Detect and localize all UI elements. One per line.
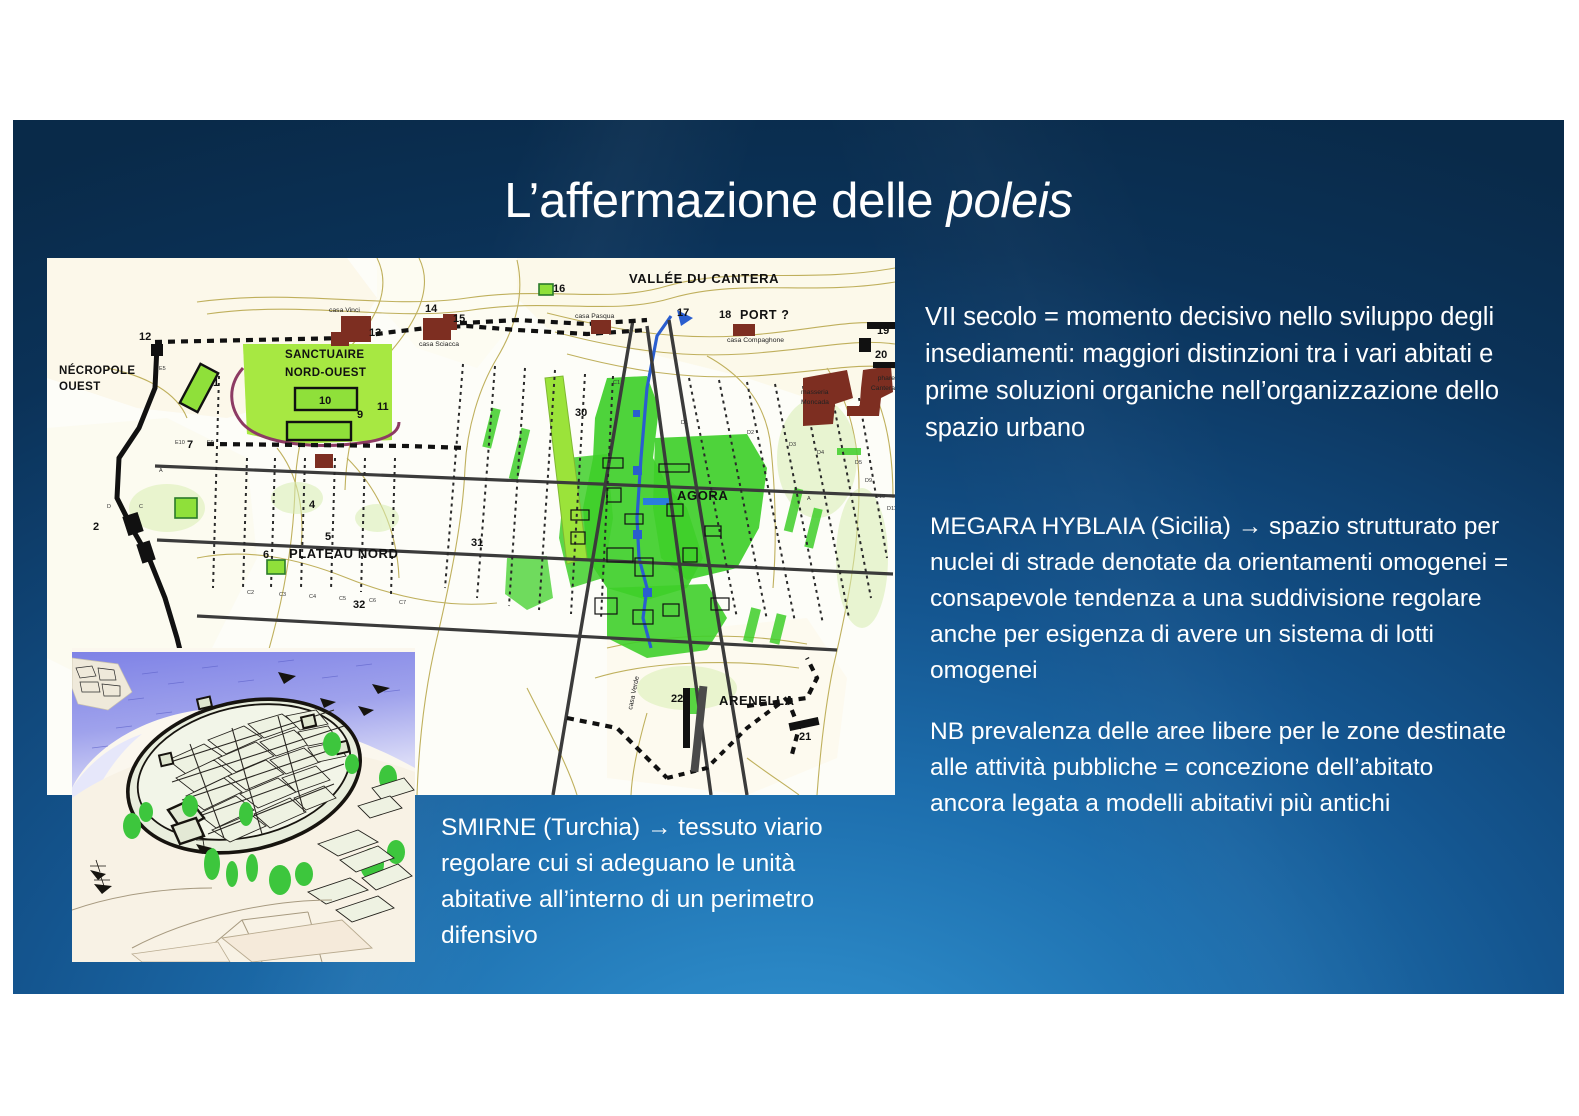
page-title: L’affermazione delle poleis <box>13 172 1564 230</box>
svg-text:C4: C4 <box>309 594 316 600</box>
svg-text:20: 20 <box>875 349 887 361</box>
paragraph-megara-hyblaia-text: MEGARA HYBLAIA (Sicilia) → spazio strutt… <box>930 509 1530 689</box>
svg-text:C2: C2 <box>247 590 254 596</box>
svg-text:10: 10 <box>319 395 331 407</box>
svg-text:Moncada: Moncada <box>801 399 829 406</box>
svg-text:SANCTUAIRE: SANCTUAIRE <box>285 349 364 361</box>
svg-text:21: 21 <box>799 731 811 743</box>
svg-text:E5: E5 <box>159 366 166 372</box>
svg-text:32: 32 <box>353 599 365 611</box>
svg-text:12: 12 <box>139 331 151 343</box>
svg-text:D4: D4 <box>817 450 824 456</box>
svg-text:casa Vinci: casa Vinci <box>329 307 360 314</box>
svg-text:1: 1 <box>213 377 219 389</box>
svg-text:31: 31 <box>471 537 483 549</box>
caption-smirne-text: SMIRNE (Turchia) → tessuto viario regola… <box>441 810 881 954</box>
svg-text:casa Compaghone: casa Compaghone <box>727 337 784 344</box>
svg-text:16: 16 <box>553 283 565 295</box>
svg-text:masseria: masseria <box>801 389 829 396</box>
caption-smirne: SMIRNE (Turchia) → tessuto viario regola… <box>441 810 881 954</box>
paragraph-vii-secolo: VII secolo = momento decisivo nello svil… <box>925 299 1533 447</box>
svg-text:22: 22 <box>671 693 683 705</box>
title-italic-text: poleis <box>947 174 1073 228</box>
svg-text:PORT ?: PORT ? <box>740 308 789 322</box>
svg-text:VALLÉE DU CANTERA: VALLÉE DU CANTERA <box>629 271 779 286</box>
svg-text:14: 14 <box>425 303 438 315</box>
paragraph-vii-secolo-text: VII secolo = momento decisivo nello svil… <box>925 299 1533 447</box>
svg-text:D: D <box>107 504 111 510</box>
svg-text:A: A <box>807 496 811 502</box>
svg-text:D3: D3 <box>789 442 796 448</box>
svg-text:E9: E9 <box>207 440 214 446</box>
paragraph-megara-hyblaia: MEGARA HYBLAIA (Sicilia) → spazio strutt… <box>930 509 1530 689</box>
svg-text:19: 19 <box>877 325 889 337</box>
svg-text:C5: C5 <box>339 596 346 602</box>
svg-text:30: 30 <box>575 407 587 419</box>
svg-text:OUEST: OUEST <box>59 381 101 393</box>
svg-text:4: 4 <box>309 499 316 511</box>
svg-text:ARENELLA: ARENELLA <box>719 693 795 708</box>
svg-text:NORD-OUEST: NORD-OUEST <box>285 367 366 379</box>
svg-text:PLATEAU NORD: PLATEAU NORD <box>289 546 399 561</box>
svg-text:D10: D10 <box>875 494 885 500</box>
svg-text:15: 15 <box>453 313 465 325</box>
presentation-slide: L’affermazione delle poleis <box>13 120 1564 994</box>
svg-text:D2: D2 <box>747 430 754 436</box>
svg-text:C7: C7 <box>399 600 406 606</box>
svg-text:13: 13 <box>369 327 381 339</box>
svg-text:18: 18 <box>719 309 731 321</box>
svg-text:AGORA: AGORA <box>677 488 728 503</box>
svg-text:Cantera: Cantera <box>871 385 895 392</box>
smirne-reconstruction-image <box>72 648 415 962</box>
paragraph-nb-aree-libere: NB prevalenza delle aree libere per le z… <box>930 714 1510 822</box>
svg-text:D1: D1 <box>681 420 688 426</box>
svg-text:2: 2 <box>93 521 99 533</box>
svg-text:E10: E10 <box>175 440 185 446</box>
svg-text:C3: C3 <box>279 592 286 598</box>
paragraph-nb-aree-libere-text: NB prevalenza delle aree libere per le z… <box>930 714 1510 822</box>
svg-text:D5: D5 <box>855 460 862 466</box>
svg-text:NÉCROPOLE: NÉCROPOLE <box>59 364 135 377</box>
svg-text:11: 11 <box>377 401 389 413</box>
svg-text:C: C <box>139 504 143 510</box>
svg-text:phare: phare <box>878 375 895 382</box>
svg-text:D9: D9 <box>865 478 872 484</box>
slide-page: L’affermazione delle poleis <box>0 0 1579 1116</box>
svg-text:7: 7 <box>187 439 193 451</box>
svg-text:6: 6 <box>263 549 269 561</box>
svg-text:D11: D11 <box>887 506 895 512</box>
svg-text:9: 9 <box>357 409 363 421</box>
svg-text:casa Sciacca: casa Sciacca <box>419 341 459 348</box>
svg-text:A: A <box>159 468 163 474</box>
svg-text:5: 5 <box>325 531 331 543</box>
svg-text:C1: C1 <box>613 380 620 386</box>
svg-text:casa Pasqua: casa Pasqua <box>575 313 615 320</box>
svg-text:C6: C6 <box>369 598 376 604</box>
svg-text:17: 17 <box>677 307 689 319</box>
title-main-text: L’affermazione delle <box>504 174 946 228</box>
